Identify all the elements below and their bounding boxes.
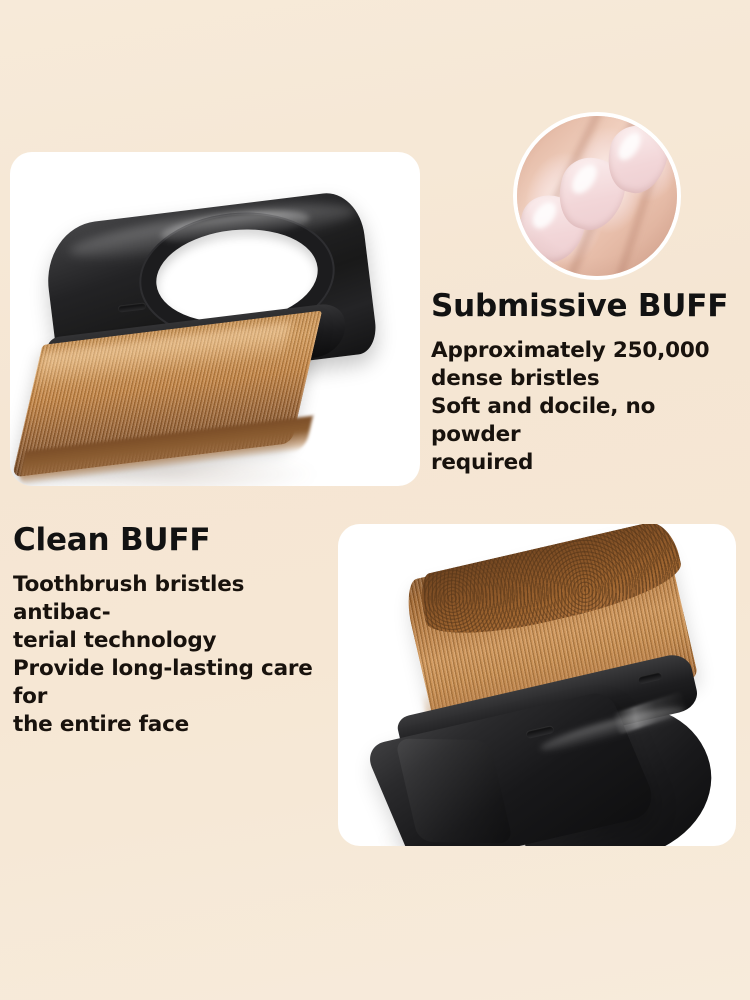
inset-vignette [517,116,677,276]
product-card-clean-buff [338,524,736,846]
product-card-submissive-buff [10,152,420,486]
nail-closeup-inset [513,112,681,280]
heading-submissive-buff: Submissive BUFF [431,290,736,323]
nail-photo [517,116,677,276]
text-block-submissive-buff: Submissive BUFF Approximately 250,000 de… [431,290,736,477]
body-text-clean-buff: Toothbrush bristles antibac- terial tech… [13,571,343,739]
product-marketing-page: Submissive BUFF Approximately 250,000 de… [0,0,750,1000]
body-text-submissive-buff: Approximately 250,000 dense bristles Sof… [431,337,736,477]
brush-image-bristles-up-view [338,524,736,846]
text-block-clean-buff: Clean BUFF Toothbrush bristles antibac- … [13,524,343,739]
heading-clean-buff: Clean BUFF [13,524,343,557]
brush-image-handle-view [10,152,420,486]
